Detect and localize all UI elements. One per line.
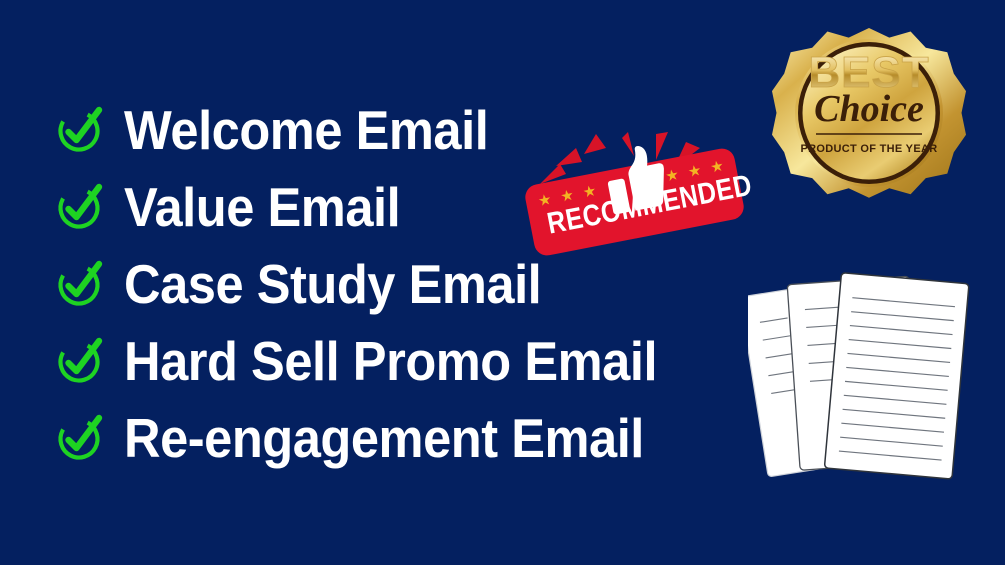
- document-sheet-front: [824, 273, 969, 479]
- badge-product-text: PRODUCT OF THE YEAR: [801, 143, 938, 155]
- list-item: Hard Sell Promo Email: [56, 323, 776, 400]
- poster-canvas: Welcome Email Value Email Case Study Ema…: [0, 0, 1005, 565]
- list-item-label: Hard Sell Promo Email: [124, 334, 657, 389]
- list-item: Re-engagement Email: [56, 400, 776, 477]
- badge-choice-text: Choice: [814, 88, 924, 130]
- green-check-circle-icon: [56, 185, 102, 231]
- best-choice-gold-badge: BEST Choice PRODUCT OF THE YEAR: [772, 28, 966, 222]
- green-check-circle-icon: [56, 108, 102, 154]
- list-item-label: Case Study Email: [124, 257, 541, 312]
- green-check-circle-icon: [56, 339, 102, 385]
- list-item-label: Value Email: [124, 180, 400, 235]
- green-check-circle-icon: [56, 416, 102, 462]
- list-item-label: Re-engagement Email: [124, 411, 644, 466]
- stacked-documents-icon: [748, 272, 978, 500]
- recommended-stamp: ★ ★ ★ ★ ★ ★ RECOMMENDED: [516, 130, 748, 260]
- green-check-circle-icon: [56, 262, 102, 308]
- list-item-label: Welcome Email: [124, 103, 488, 158]
